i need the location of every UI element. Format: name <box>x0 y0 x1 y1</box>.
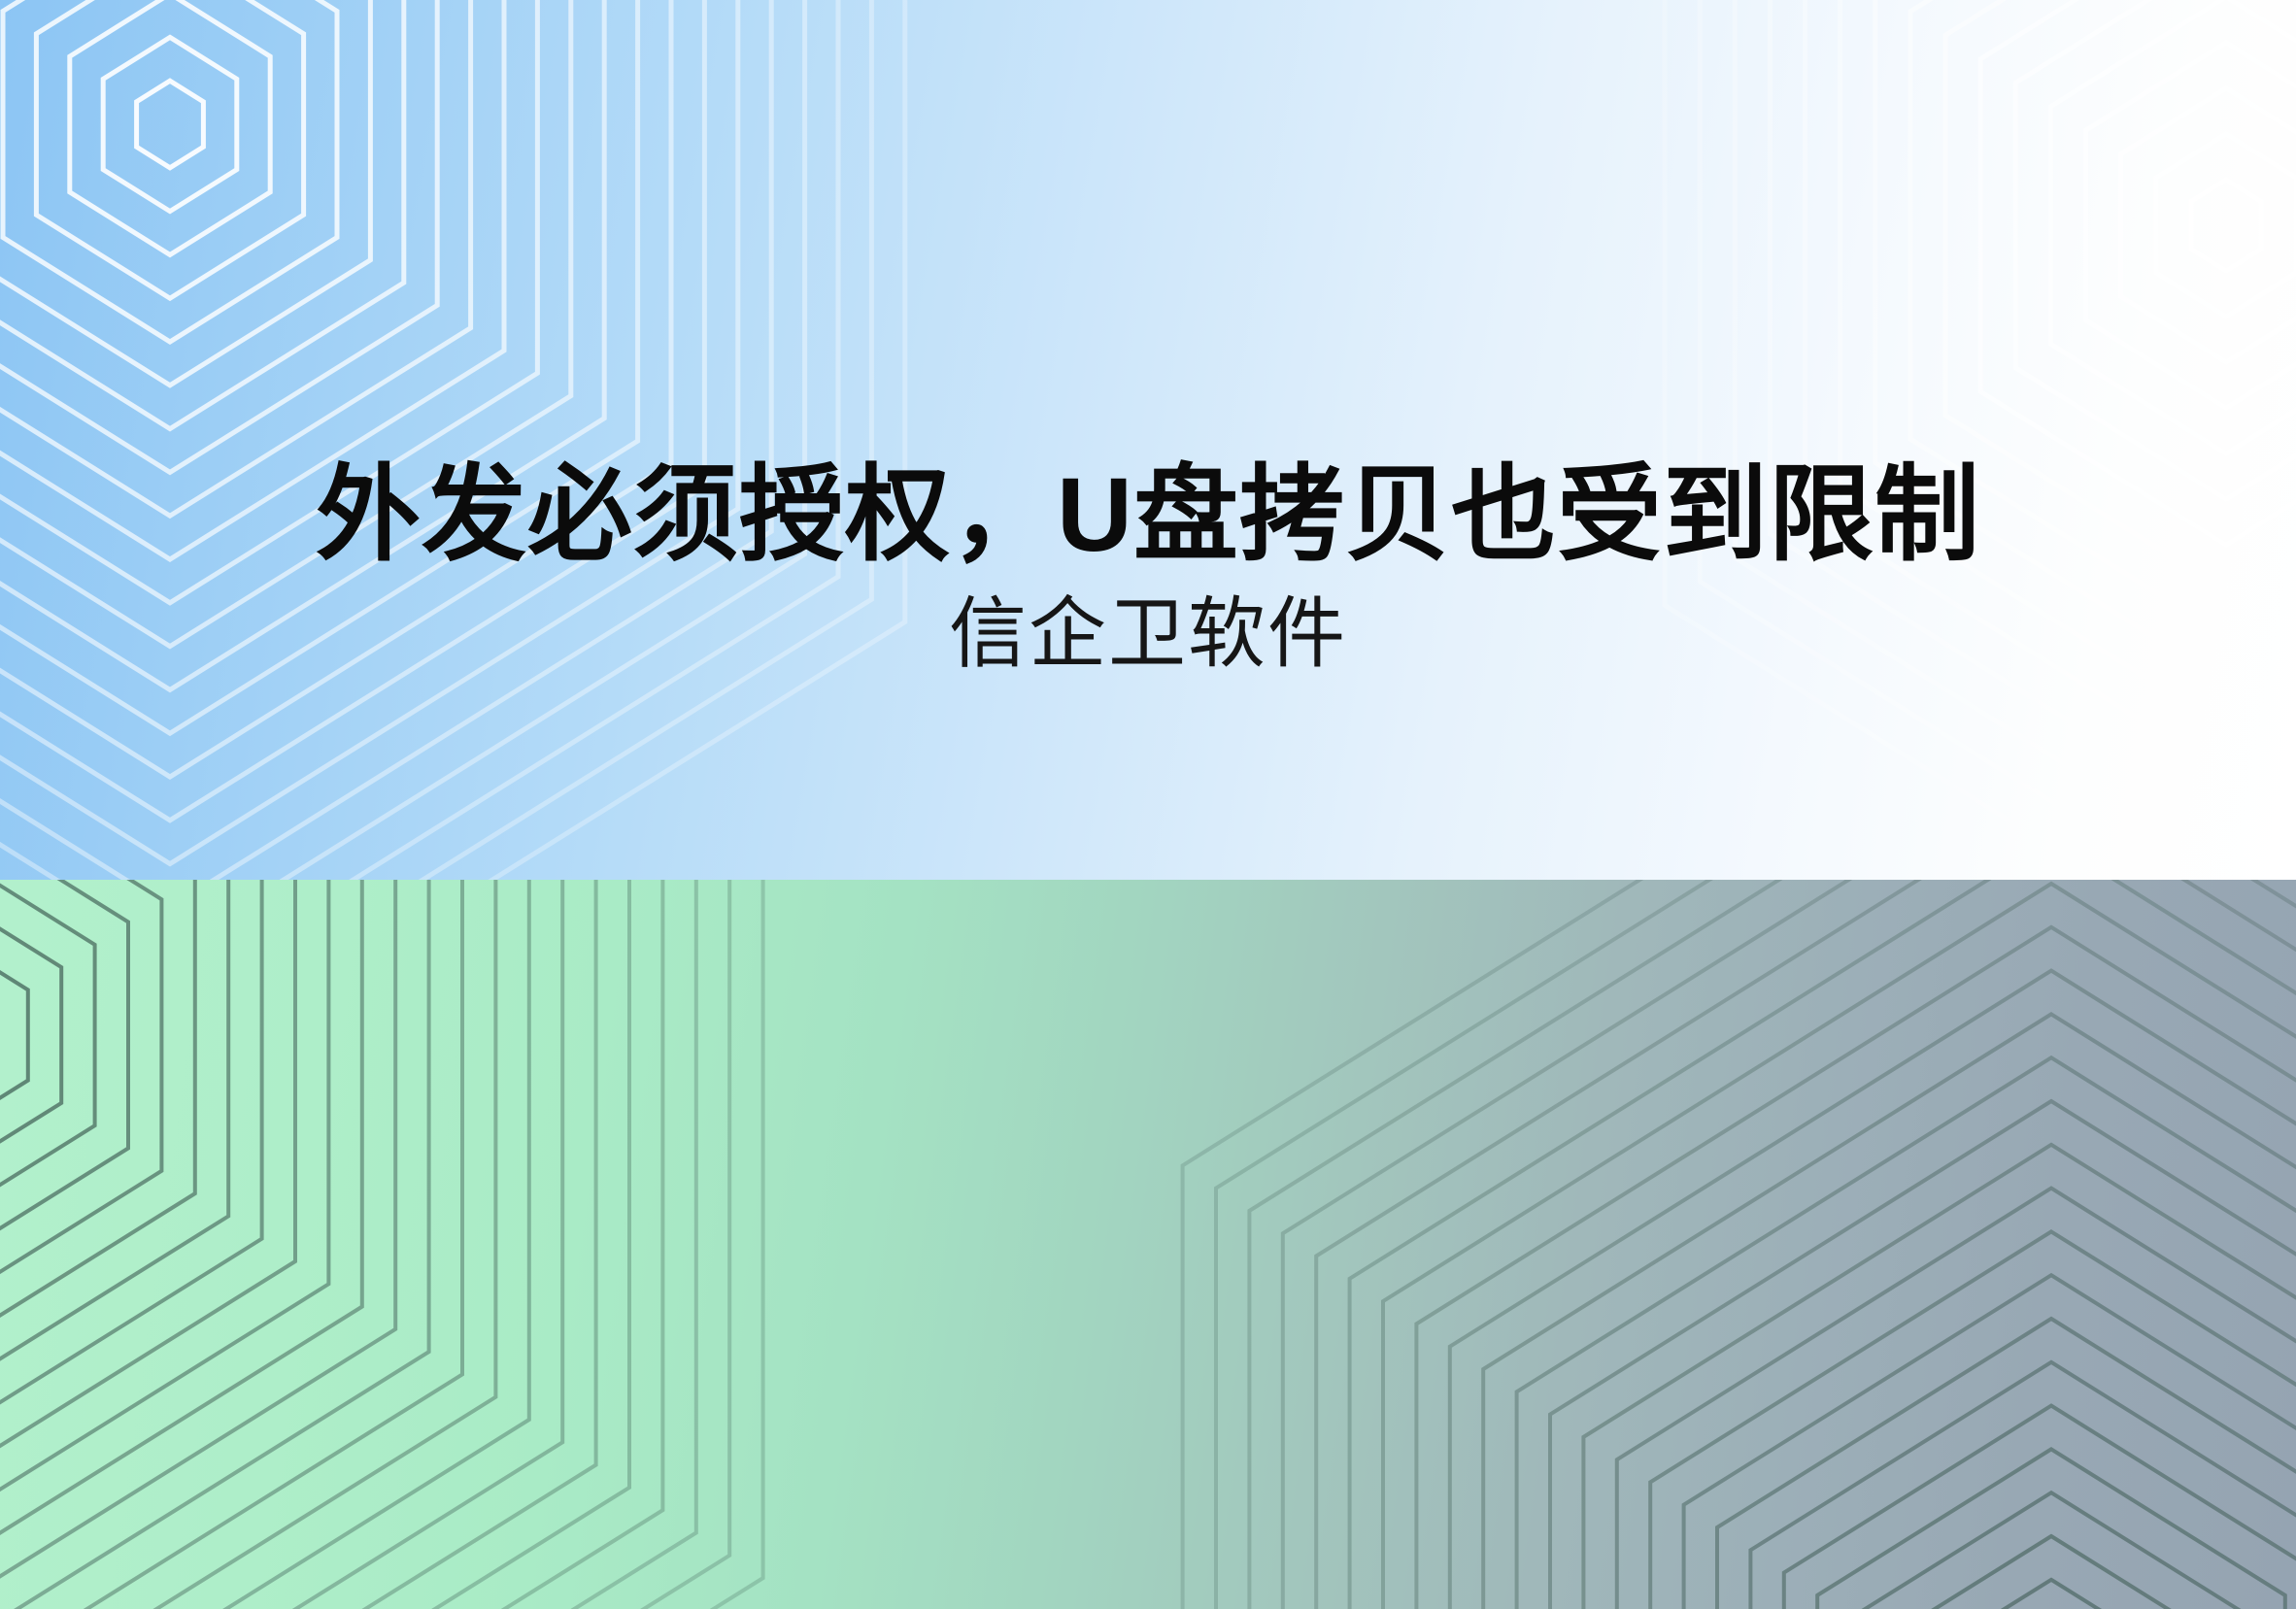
hexagon-pattern-top-left <box>0 0 905 880</box>
top-background-band <box>0 0 2296 880</box>
hexagon-pattern-bottom-left <box>0 880 763 1609</box>
top-pattern-layer <box>0 0 2296 880</box>
title-block: 外发必须授权，U盘拷贝也受到限制 信企卫软件 <box>0 456 2296 677</box>
bottom-pattern-layer <box>0 880 2296 1609</box>
slide-canvas: 外发必须授权，U盘拷贝也受到限制 信企卫软件 <box>0 0 2296 1609</box>
page-subtitle: 信企卫软件 <box>0 591 2296 677</box>
page-title: 外发必须授权，U盘拷贝也受到限制 <box>0 456 2296 574</box>
bottom-background-band <box>0 880 2296 1609</box>
hexagon-pattern-bottom-right <box>1183 880 2296 1609</box>
hexagon-pattern-top-right <box>1665 0 2296 880</box>
